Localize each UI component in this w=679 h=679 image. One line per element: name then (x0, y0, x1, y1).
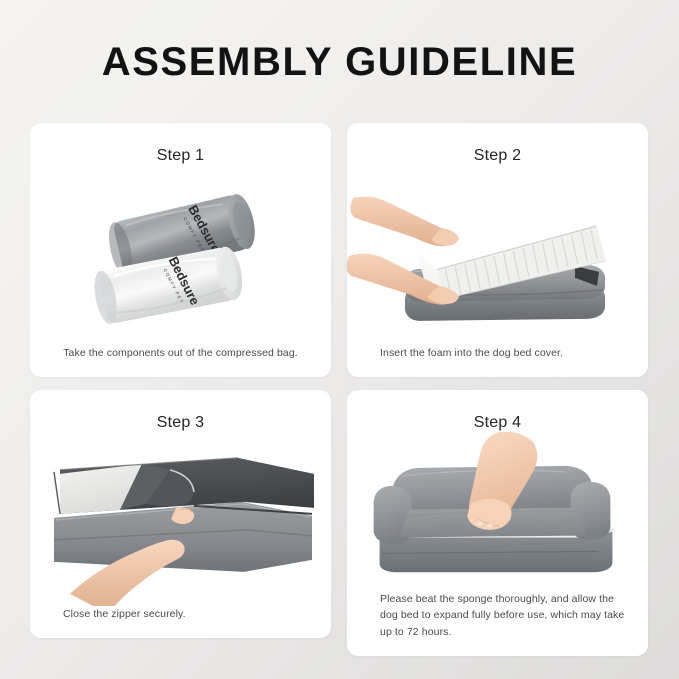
compressed-rolls-icon: Bedsure COMFY PET (30, 165, 331, 345)
steps-grid: Step 1 (30, 123, 648, 656)
step-caption-1: Take the components out of the compresse… (30, 345, 331, 377)
step-card-2: Step 2 (347, 123, 648, 377)
step-card-3: Step 3 (30, 390, 331, 638)
step-title-3: Step 3 (30, 414, 331, 432)
step-caption-2: Insert the foam into the dog bed cover. (347, 345, 648, 377)
step-card-4: Step 4 (347, 390, 648, 656)
step-title-2: Step 2 (347, 147, 648, 165)
step-card-1: Step 1 (30, 123, 331, 377)
steps-row-top: Step 1 (30, 123, 648, 377)
assembly-guideline-page: ASSEMBLY GUIDELINE Step 1 (0, 0, 679, 679)
steps-row-bottom: Step 3 (30, 390, 648, 656)
step-caption-3: Close the zipper securely. (30, 606, 331, 638)
insert-foam-icon (347, 165, 648, 345)
step-illustration-1: Bedsure COMFY PET (30, 165, 331, 345)
hand-upper (350, 197, 459, 247)
step-caption-4: Please beat the sponge thoroughly, and a… (347, 591, 648, 656)
close-zipper-icon (30, 432, 331, 606)
page-title: ASSEMBLY GUIDELINE (0, 40, 679, 85)
step-title-1: Step 1 (30, 147, 331, 165)
step-illustration-2 (347, 165, 648, 345)
step-title-4: Step 4 (347, 414, 648, 432)
step-illustration-4 (347, 432, 648, 591)
step-illustration-3 (30, 432, 331, 606)
expand-bed-icon (347, 432, 648, 591)
